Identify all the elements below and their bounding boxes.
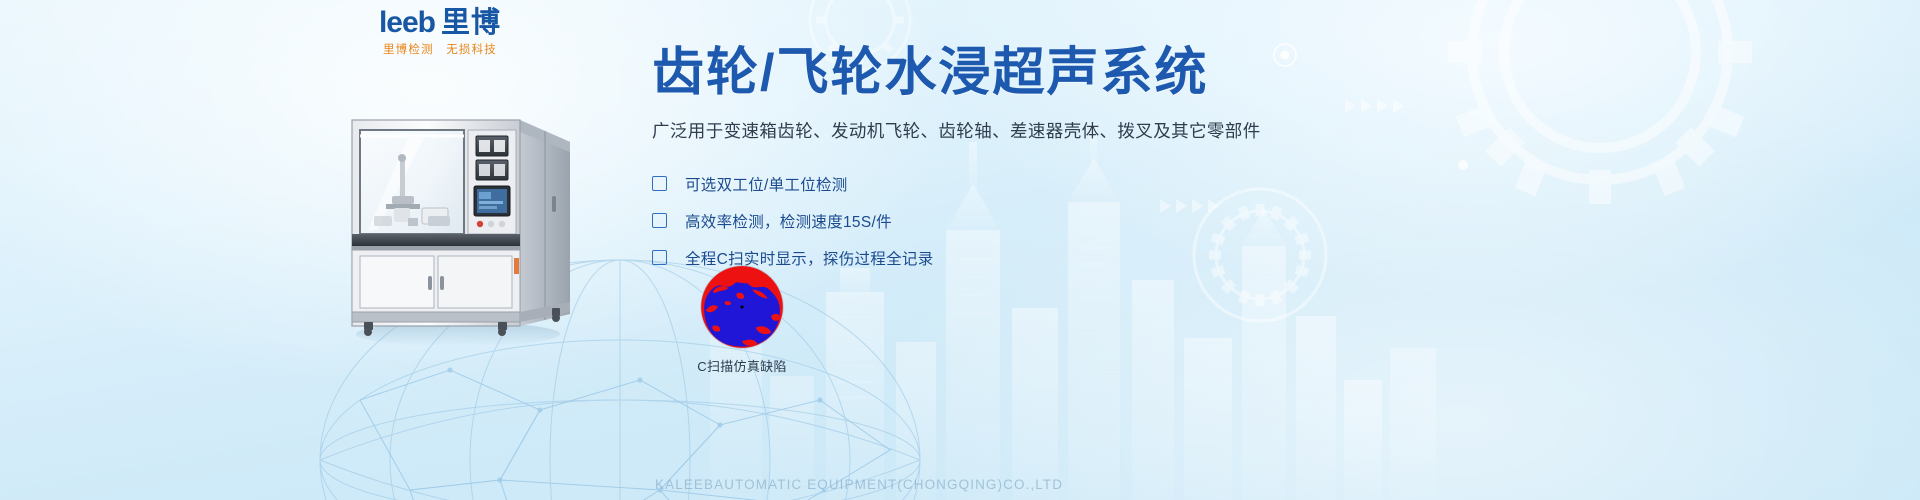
feature-item-1: 可选双工位/单工位检测: [652, 165, 1782, 202]
feature-item-2: 高效率检测，检测速度15S/件: [652, 202, 1782, 239]
feature-label-1: 可选双工位/单工位检测: [685, 173, 848, 195]
logo-tagline-left: 里博检测: [383, 44, 434, 56]
logo-wordmark: leeb 里博: [345, 8, 535, 38]
company-watermark: KALEEBAUTOMATIC EQUIPMENT(CHONGQING)CO.,…: [655, 477, 1063, 492]
cscan-caption: C扫描仿真缺陷: [672, 356, 812, 375]
hero-subtitle: 广泛用于变速箱齿轮、发动机飞轮、齿轮轴、差速器壳体、拨叉及其它零部件: [652, 118, 1782, 143]
logo-tagline: 里博检测 无损科技: [345, 41, 535, 57]
page-title: 齿轮/飞轮水浸超声系统: [652, 44, 1782, 102]
product-banner: leeb 里博 里博检测 无损科技: [0, 0, 1920, 500]
checkbox-icon[interactable]: [652, 213, 667, 228]
feature-item-3: 全程C扫实时显示，探伤过程全记录: [652, 239, 1782, 276]
feature-list: 可选双工位/单工位检测 高效率检测，检测速度15S/件 全程C扫实时显示，探伤过…: [652, 165, 1782, 276]
company-logo[interactable]: leeb 里博 里博检测 无损科技: [345, 8, 535, 57]
hero-content: 齿轮/飞轮水浸超声系统 广泛用于变速箱齿轮、发动机飞轮、齿轮轴、差速器壳体、拨叉…: [652, 44, 1782, 276]
cscan-defect-image: [699, 264, 785, 350]
logo-cjk-text: 里博: [441, 9, 501, 38]
logo-tagline-right: 无损科技: [446, 44, 497, 56]
logo-latin-text: leeb: [379, 8, 435, 38]
product-photo-ultrasonic-immersion-machine: [338, 100, 588, 345]
checkbox-icon[interactable]: [652, 250, 667, 265]
feature-label-2: 高效率检测，检测速度15S/件: [685, 210, 892, 232]
cscan-sample: C扫描仿真缺陷: [672, 264, 812, 375]
checkbox-icon[interactable]: [652, 176, 667, 191]
